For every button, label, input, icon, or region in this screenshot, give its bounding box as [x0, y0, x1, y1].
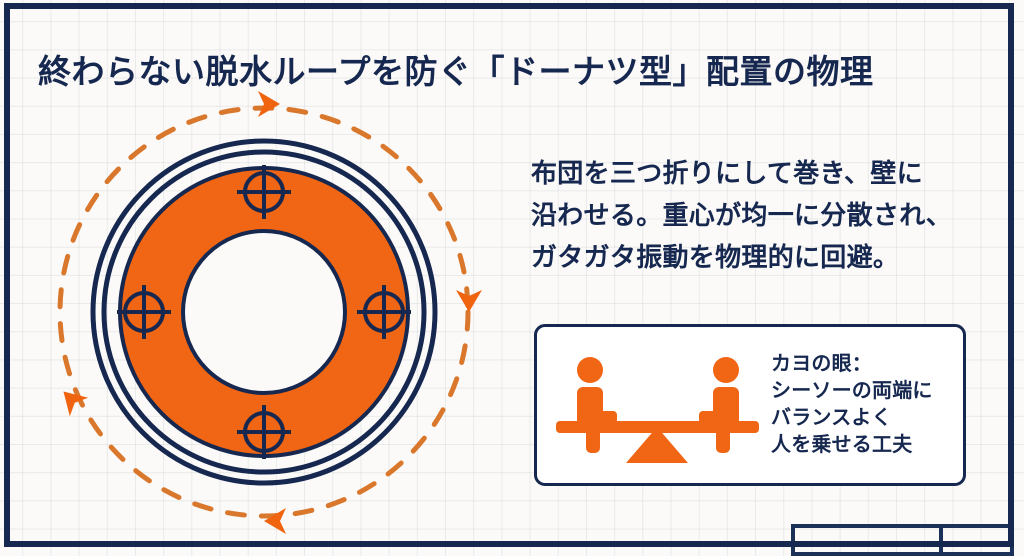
callout-line-3: バランスよく [771, 405, 963, 432]
description-line-1: 布団を三つ折りにして巻き、壁に [531, 152, 981, 194]
callout-line-1: カヨの眼： [771, 351, 963, 378]
arrow-top-icon [258, 91, 280, 117]
callout-text-block: カヨの眼： シーソーの両端に バランスよく 人を乗せる工夫 [771, 351, 963, 458]
slide-canvas: 終わらない脱水ループを防ぐ「ドーナツ型」配置の物理 [0, 0, 1024, 556]
seesaw-balance-icon [550, 345, 765, 465]
title-block-cell-left [795, 528, 943, 552]
description-line-2: 沿わせる。重心が均一に分散され、 [531, 194, 981, 236]
donut-arrangement-diagram [52, 80, 532, 556]
callout-line-2: シーソーの両端に [771, 378, 963, 405]
drawing-title-block [791, 524, 1014, 556]
arrow-left-icon [54, 382, 88, 416]
title-block-cell-right [943, 528, 1010, 552]
callout-line-4: 人を乗せる工夫 [771, 432, 963, 459]
description-line-3: ガタガタ振動を物理的に回避。 [531, 236, 981, 278]
hub [183, 231, 345, 393]
description-paragraph: 布団を三つ折りにして巻き、壁に 沿わせる。重心が均一に分散され、 ガタガタ振動を… [531, 152, 981, 278]
insight-callout-box: カヨの眼： シーソーの両端に バランスよく 人を乗せる工夫 [534, 324, 966, 486]
arrow-bottom-icon [264, 508, 286, 534]
